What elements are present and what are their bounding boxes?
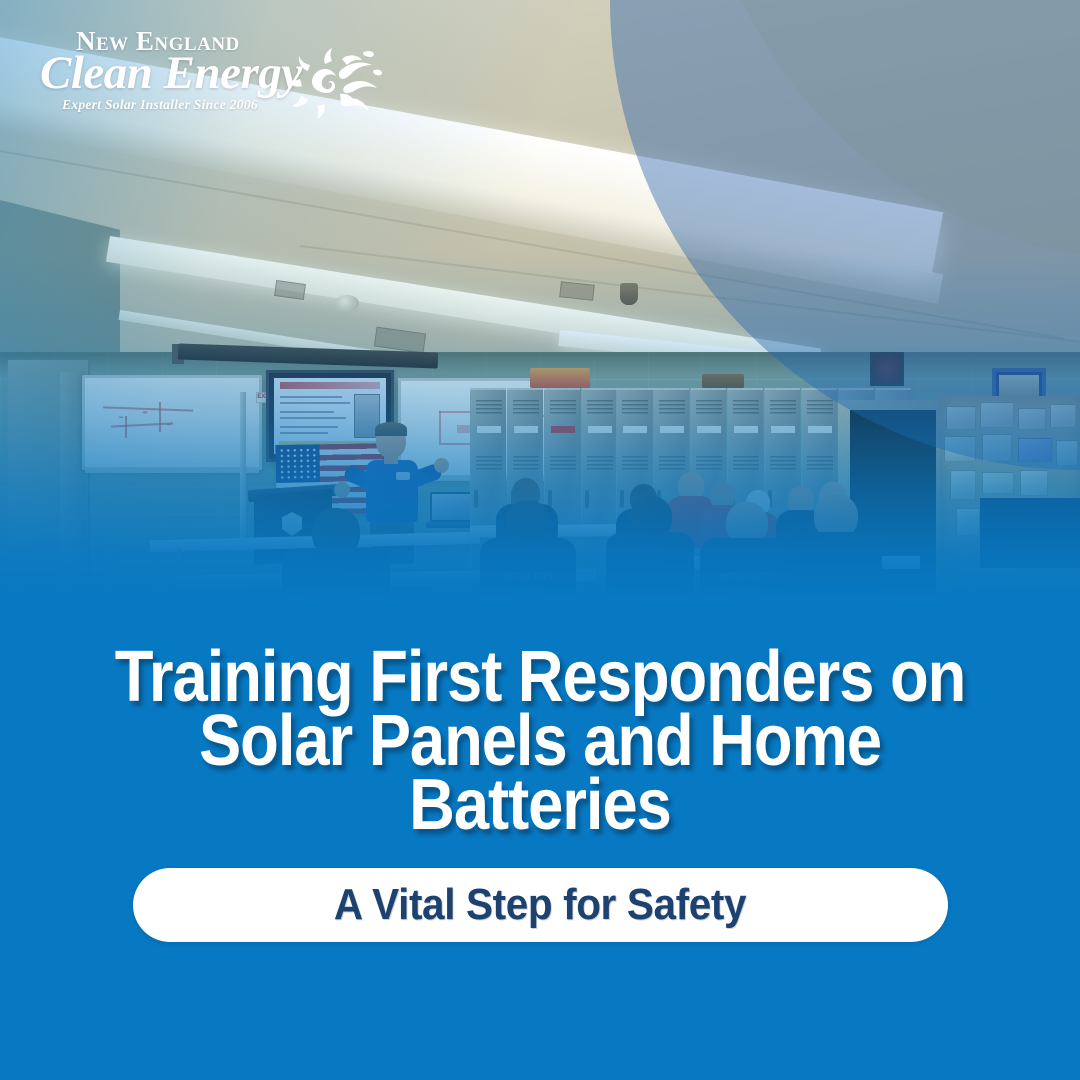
logo-tagline: Expert Solar Installer Since 2006 — [62, 98, 258, 112]
headline-line-1: Training First Responders on — [100, 645, 980, 709]
subtitle-text: A Vital Step for Safety — [334, 883, 746, 927]
page-title: Training First Responders on Solar Panel… — [100, 645, 980, 837]
registered-trademark-mark: ® — [258, 84, 266, 95]
headline-line-3: Batteries — [100, 773, 980, 837]
sun-swirl-icon — [278, 46, 382, 118]
subtitle-pill: A Vital Step for Safety — [133, 868, 948, 942]
headline-line-2: Solar Panels and Home — [100, 709, 980, 773]
social-graphic-canvas: EXIT — [0, 0, 1080, 1080]
brand-logo[interactable]: New England Clean Energy ® Expert Solar … — [30, 28, 360, 120]
